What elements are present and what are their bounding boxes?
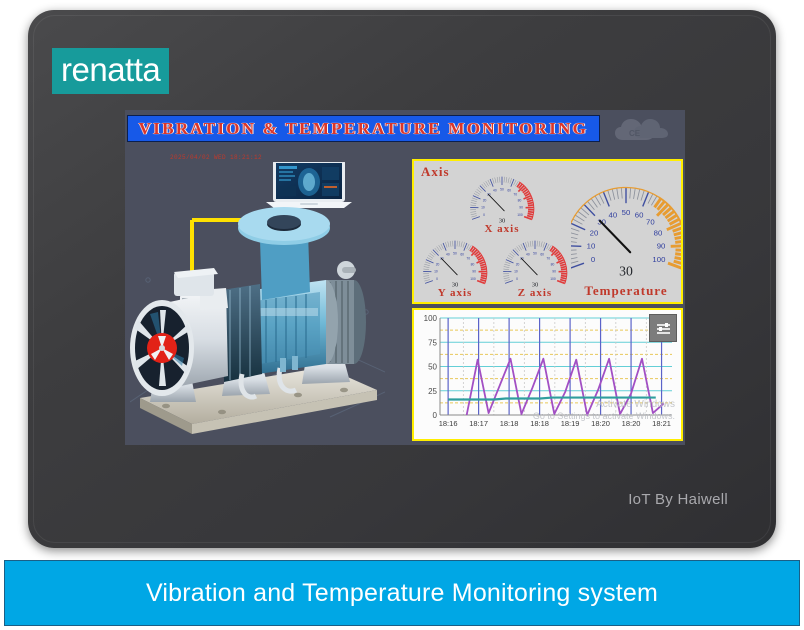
svg-text:0: 0 (433, 411, 438, 420)
hmi-screen: VIBRATION & TEMPERATURE MONITORING CE 20… (125, 110, 685, 445)
z-axis-gauge-caption: Z axis (502, 287, 568, 299)
svg-text:80: 80 (518, 199, 522, 203)
device-footer-brand: IoT By Haiwell (628, 491, 728, 508)
svg-text:0: 0 (516, 277, 518, 281)
gauges-panel: Axis 010203040506070809010030 X axis 010… (412, 159, 683, 304)
svg-text:100: 100 (652, 255, 666, 264)
svg-text:10: 10 (514, 270, 518, 274)
svg-text:60: 60 (540, 253, 544, 257)
svg-text:10: 10 (434, 270, 438, 274)
svg-text:50: 50 (500, 187, 504, 191)
svg-text:18:18: 18:18 (530, 419, 549, 428)
caption-text: Vibration and Temperature Monitoring sys… (146, 579, 658, 608)
svg-text:70: 70 (466, 257, 470, 261)
pump-illustration (130, 162, 385, 440)
svg-text:60: 60 (507, 189, 511, 193)
x-axis-gauge: 010203040506070809010030 (469, 169, 535, 225)
svg-text:100: 100 (470, 277, 476, 281)
svg-text:80: 80 (551, 263, 555, 267)
svg-text:80: 80 (471, 263, 475, 267)
svg-text:40: 40 (446, 253, 450, 257)
svg-text:25: 25 (428, 387, 437, 396)
svg-text:90: 90 (552, 270, 556, 274)
svg-text:100: 100 (550, 277, 556, 281)
svg-text:70: 70 (546, 257, 550, 261)
haiwell-cloud-logo-icon: CE (607, 116, 679, 146)
page-title: VIBRATION & TEMPERATURE MONITORING (139, 119, 589, 139)
svg-text:100: 100 (424, 314, 438, 323)
trend-chart-svg: 025507510018:1618:1718:1818:1818:1918:20… (414, 310, 681, 439)
y-axis-gauge: 010203040506070809010030 (422, 233, 488, 289)
screenshot-root: renatta IoT By Haiwell VIBRATION & TEMPE… (0, 0, 804, 630)
svg-text:50: 50 (428, 363, 437, 372)
trend-chart-panel: 025507510018:1618:1718:1818:1818:1918:20… (412, 308, 683, 441)
svg-text:50: 50 (533, 251, 537, 255)
svg-text:18:21: 18:21 (652, 419, 671, 428)
svg-text:20: 20 (483, 199, 487, 203)
svg-text:40: 40 (526, 253, 530, 257)
svg-text:10: 10 (587, 242, 596, 251)
svg-text:40: 40 (493, 189, 497, 193)
temperature-gauge: 010203040506070809010030 (571, 171, 681, 279)
svg-text:0: 0 (591, 255, 596, 264)
screen-datetime: 2025/04/02 WED 18:21:12 (170, 154, 262, 161)
svg-text:10: 10 (481, 206, 485, 210)
svg-text:100: 100 (517, 213, 523, 217)
svg-text:0: 0 (436, 277, 438, 281)
svg-text:18:19: 18:19 (561, 419, 580, 428)
svg-text:50: 50 (453, 251, 457, 255)
svg-text:CE: CE (629, 129, 641, 138)
svg-text:90: 90 (472, 270, 476, 274)
trend-chart-plot: 025507510018:1618:1718:1818:1818:1918:20… (414, 310, 681, 439)
hmi-device-bezel: renatta IoT By Haiwell VIBRATION & TEMPE… (28, 10, 776, 548)
svg-text:40: 40 (609, 210, 618, 219)
brand-logo: renatta (52, 48, 169, 94)
svg-text:90: 90 (519, 206, 523, 210)
temperature-gauge-caption: Temperature (571, 283, 681, 299)
y-axis-gauge-caption: Y axis (422, 287, 488, 299)
svg-text:20: 20 (516, 263, 520, 267)
svg-text:75: 75 (428, 338, 437, 347)
svg-text:30: 30 (619, 264, 633, 279)
svg-text:70: 70 (646, 218, 655, 227)
svg-text:20: 20 (436, 263, 440, 267)
svg-text:90: 90 (657, 242, 666, 251)
svg-text:18:20: 18:20 (591, 419, 610, 428)
laptop-graphic (266, 162, 352, 208)
svg-text:18:18: 18:18 (500, 419, 519, 428)
svg-text:20: 20 (590, 229, 599, 238)
svg-text:0: 0 (483, 213, 485, 217)
screen-title-bar: VIBRATION & TEMPERATURE MONITORING (127, 115, 600, 142)
svg-text:70: 70 (513, 193, 517, 197)
svg-text:60: 60 (460, 253, 464, 257)
axis-group-label: Axis (421, 164, 450, 180)
svg-text:50: 50 (622, 208, 631, 217)
svg-text:60: 60 (635, 210, 644, 219)
svg-text:18:20: 18:20 (622, 419, 641, 428)
chart-settings-icon[interactable] (649, 314, 677, 342)
svg-text:18:16: 18:16 (439, 419, 458, 428)
caption-banner: Vibration and Temperature Monitoring sys… (4, 560, 800, 626)
z-axis-gauge: 010203040506070809010030 (502, 233, 568, 289)
svg-text:80: 80 (654, 229, 663, 238)
svg-text:18:17: 18:17 (469, 419, 488, 428)
